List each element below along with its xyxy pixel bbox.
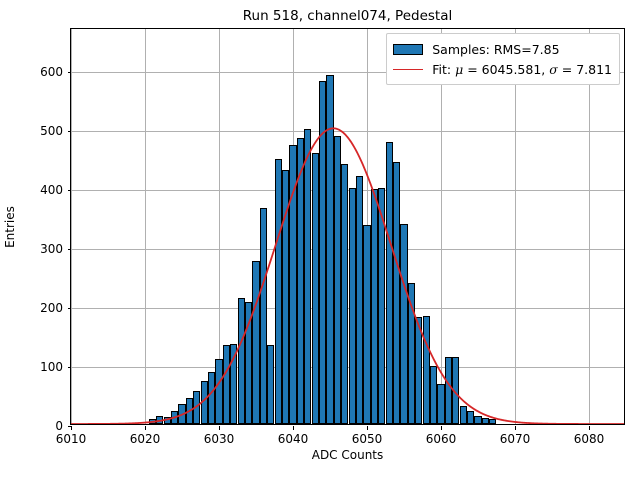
- histogram-bar: [245, 302, 252, 424]
- y-tick-mark: [68, 72, 72, 73]
- histogram-bar: [408, 283, 415, 424]
- histogram-bar: [363, 225, 370, 424]
- legend-entry-samples[interactable]: Samples: RMS=7.85: [393, 39, 612, 59]
- y-tick-label: 0: [55, 419, 63, 433]
- histogram-bar: [319, 81, 326, 424]
- gridline-vertical: [71, 29, 72, 424]
- histogram-bar: [378, 188, 385, 424]
- histogram-bar: [452, 357, 459, 424]
- legend-mu-symbol: μ: [455, 62, 463, 77]
- y-tick-mark: [68, 131, 72, 132]
- histogram-bar: [415, 317, 422, 424]
- histogram-bar: [393, 162, 400, 424]
- legend-label-fit: Fit: μ = 6045.581, σ = 7.811: [432, 62, 612, 77]
- histogram-bar: [467, 411, 474, 424]
- x-tick-label: 6050: [352, 432, 383, 446]
- x-tick-mark: [367, 426, 368, 430]
- legend-mu-value: = 6045.581,: [463, 62, 549, 77]
- histogram-bar: [156, 416, 163, 424]
- histogram-bar: [275, 159, 282, 424]
- histogram-bar: [482, 418, 489, 424]
- x-tick-mark: [71, 426, 72, 430]
- histogram-bar: [371, 189, 378, 424]
- histogram-bar: [400, 224, 407, 424]
- legend-swatch-bar-icon: [393, 44, 423, 55]
- histogram-bar: [282, 170, 289, 424]
- histogram-bar: [164, 417, 171, 424]
- y-tick-mark: [68, 367, 72, 368]
- histogram-bar: [460, 406, 467, 424]
- histogram-bar: [178, 404, 185, 424]
- histogram-bar: [356, 176, 363, 424]
- histogram-bar: [260, 208, 267, 424]
- x-tick-mark: [515, 426, 516, 430]
- histogram-bar: [208, 372, 215, 424]
- histogram-bar: [304, 129, 311, 424]
- x-tick-label: 6020: [130, 432, 161, 446]
- y-tick-label: 300: [40, 242, 63, 256]
- histogram-bar: [171, 411, 178, 424]
- histogram-bar: [289, 145, 296, 424]
- y-tick-mark: [68, 249, 72, 250]
- x-tick-label: 6010: [56, 432, 87, 446]
- x-tick-label: 6030: [204, 432, 235, 446]
- histogram-bar: [386, 142, 393, 424]
- chart-title: Run 518, channel074, Pedestal: [70, 8, 625, 24]
- x-tick-mark: [145, 426, 146, 430]
- y-tick-label: 400: [40, 183, 63, 197]
- plot-clip: [71, 29, 624, 424]
- legend-sigma-value: = 7.811: [558, 62, 612, 77]
- plot-area: 6010602060306040605060606070608001002003…: [70, 28, 625, 425]
- x-axis-label: ADC Counts: [70, 448, 625, 462]
- x-tick-label: 6080: [574, 432, 605, 446]
- y-tick-label: 500: [40, 124, 63, 138]
- histogram-bar: [334, 136, 341, 424]
- y-tick-label: 600: [40, 65, 63, 79]
- histogram-bar: [437, 384, 444, 424]
- gridline-vertical: [441, 29, 442, 424]
- histogram-bar: [349, 188, 356, 424]
- y-tick-mark: [68, 426, 72, 427]
- legend-entry-fit[interactable]: Fit: μ = 6045.581, σ = 7.811: [393, 59, 612, 79]
- histogram-bar: [297, 138, 304, 424]
- gridline-vertical: [145, 29, 146, 424]
- histogram-bar: [149, 419, 156, 424]
- histogram-bar: [445, 357, 452, 424]
- histogram-bar: [201, 381, 208, 424]
- gridline-horizontal: [71, 131, 624, 132]
- histogram-bar: [474, 416, 481, 424]
- gridline-vertical: [515, 29, 516, 424]
- y-tick-label: 100: [40, 360, 63, 374]
- histogram-bar: [326, 75, 333, 424]
- gridline-vertical: [589, 29, 590, 424]
- legend-swatch-line-icon: [393, 69, 423, 70]
- x-tick-mark: [441, 426, 442, 430]
- histogram-bar: [267, 345, 274, 424]
- histogram-bar: [252, 261, 259, 424]
- histogram-bar: [230, 344, 237, 424]
- histogram-bar: [489, 419, 496, 424]
- y-tick-label: 200: [40, 301, 63, 315]
- x-tick-label: 6040: [278, 432, 309, 446]
- histogram-bar: [223, 345, 230, 424]
- histogram-bar: [430, 366, 437, 424]
- legend-fit-prefix: Fit:: [432, 62, 455, 77]
- histogram-bar: [238, 298, 245, 424]
- histogram-bar: [186, 398, 193, 424]
- x-tick-mark: [219, 426, 220, 430]
- histogram-bar: [423, 316, 430, 424]
- x-tick-mark: [293, 426, 294, 430]
- y-tick-mark: [68, 190, 72, 191]
- x-tick-label: 6060: [426, 432, 457, 446]
- histogram-bar: [215, 359, 222, 424]
- legend-sigma-symbol: σ: [549, 62, 558, 77]
- histogram-bar: [193, 391, 200, 424]
- figure-canvas: Run 518, channel074, Pedestal Entries AD…: [0, 0, 640, 480]
- legend-box[interactable]: Samples: RMS=7.85 Fit: μ = 6045.581, σ =…: [386, 33, 620, 85]
- histogram-bar: [312, 153, 319, 424]
- histogram-bar: [341, 164, 348, 424]
- y-axis-label: Entries: [2, 28, 18, 425]
- legend-label-samples: Samples: RMS=7.85: [432, 42, 559, 57]
- x-tick-mark: [589, 426, 590, 430]
- y-axis-label-text: Entries: [3, 206, 17, 248]
- x-tick-label: 6070: [500, 432, 531, 446]
- y-tick-mark: [68, 308, 72, 309]
